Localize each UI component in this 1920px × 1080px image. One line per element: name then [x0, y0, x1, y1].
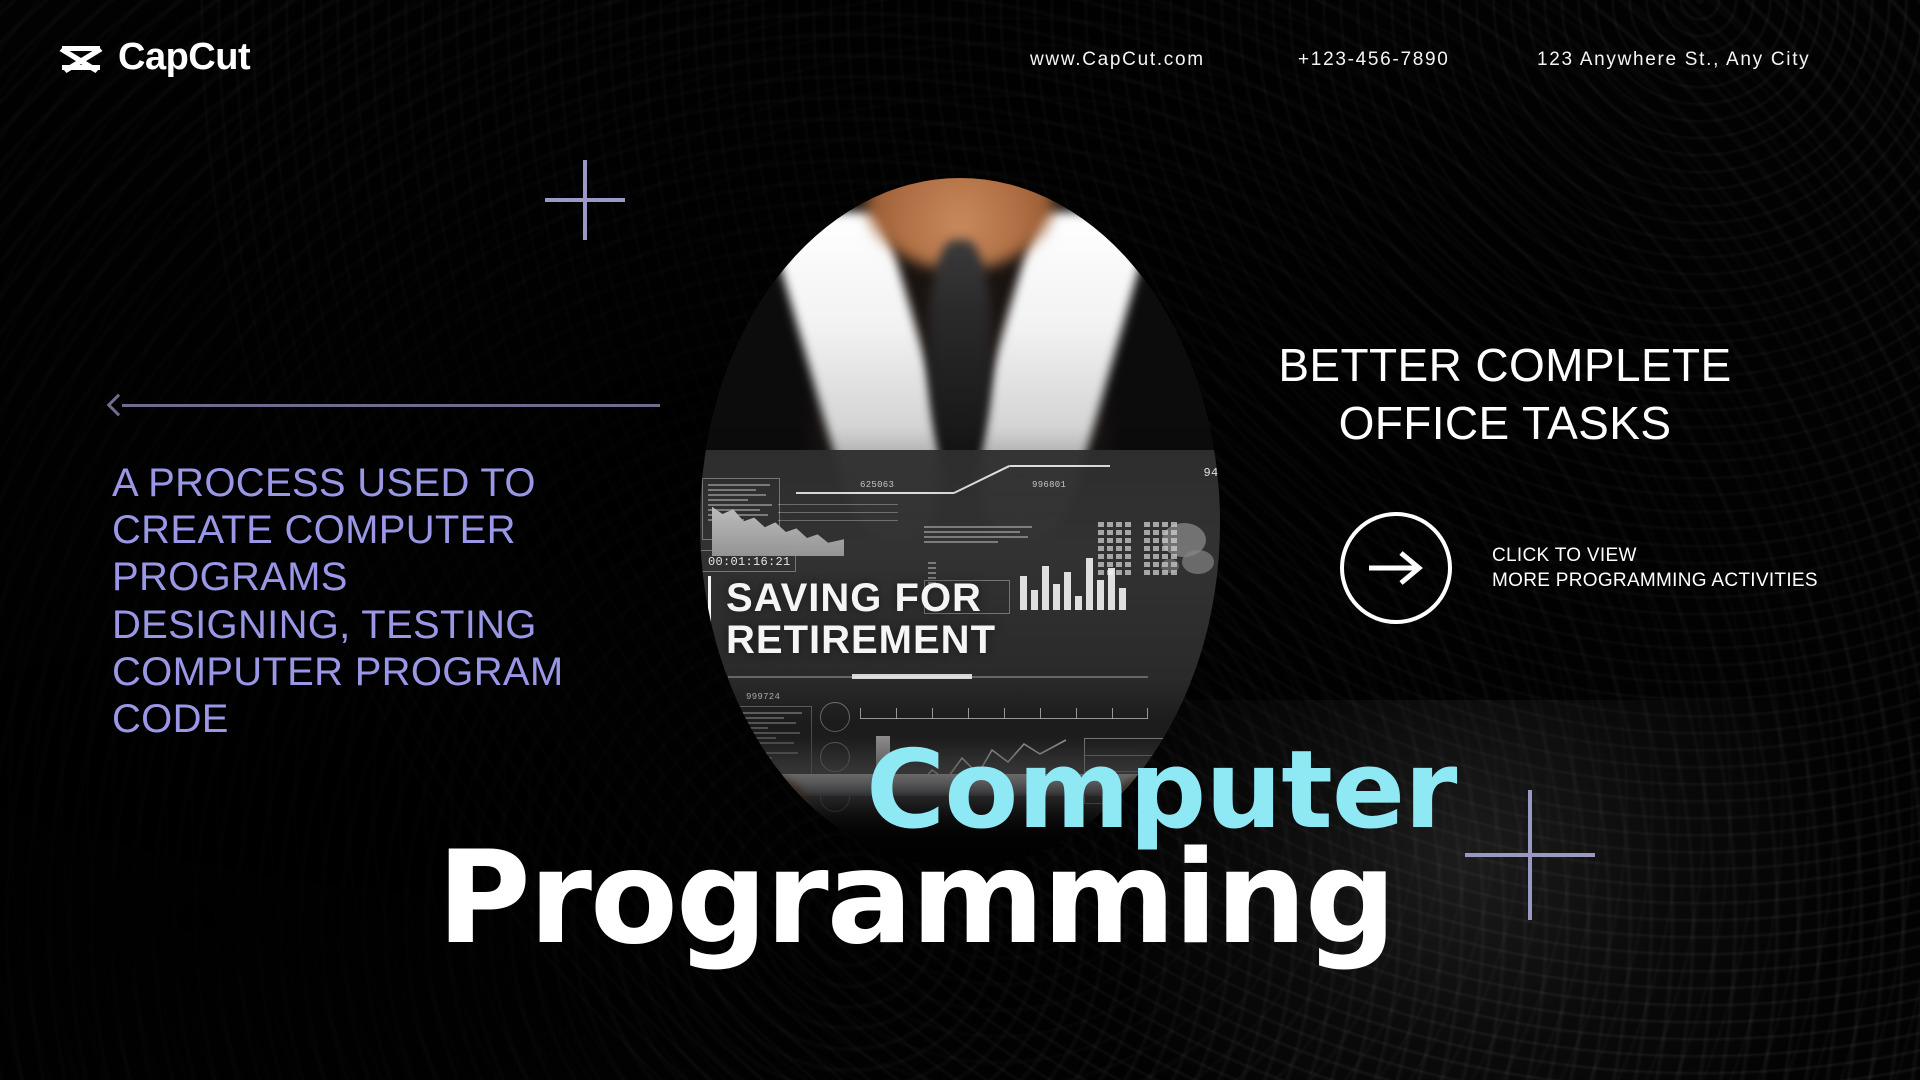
description-text: A PROCESS USED TO CREATE COMPUTER PROGRA… — [112, 460, 582, 743]
hud-value-left: 625063 — [860, 480, 894, 490]
arrow-left-line-icon — [110, 393, 660, 419]
right-headline: BETTER COMPLETE OFFICE TASKS — [1245, 337, 1765, 453]
brand-logo[interactable]: CapCut — [58, 36, 250, 79]
cta-label[interactable]: CLICK TO VIEW MORE PROGRAMMING ACTIVITIE… — [1492, 543, 1818, 593]
poster-canvas: CapCut www.CapCut.com +123-456-7890 123 … — [0, 0, 1920, 1080]
header-phone[interactable]: +123-456-7890 — [1298, 49, 1450, 71]
globe-icon — [1154, 514, 1220, 592]
header-address: 123 Anywhere St., Any City — [1537, 49, 1810, 71]
capcut-logo-icon — [58, 38, 104, 78]
hud-value-edge: 94. — [1203, 466, 1220, 480]
cta-group[interactable]: CLICK TO VIEW MORE PROGRAMMING ACTIVITIE… — [1340, 512, 1818, 624]
hud-timecode: 00:01:16:21 — [708, 555, 791, 569]
plus-mark-top-icon — [545, 160, 625, 240]
cta-label-line1: CLICK TO VIEW — [1492, 543, 1818, 568]
cta-label-line2: MORE PROGRAMMING ACTIVITIES — [1492, 568, 1818, 593]
arrow-right-circle-icon[interactable] — [1340, 512, 1452, 624]
plus-mark-bottom-icon — [1465, 790, 1595, 920]
header-website[interactable]: www.CapCut.com — [1030, 49, 1205, 71]
brand-name: CapCut — [118, 36, 250, 79]
hud-value-right: 996801 — [1032, 480, 1066, 490]
title-word-bottom: Programming — [437, 835, 1394, 963]
hud-headline: SAVING FOR RETIREMENT — [726, 578, 996, 661]
